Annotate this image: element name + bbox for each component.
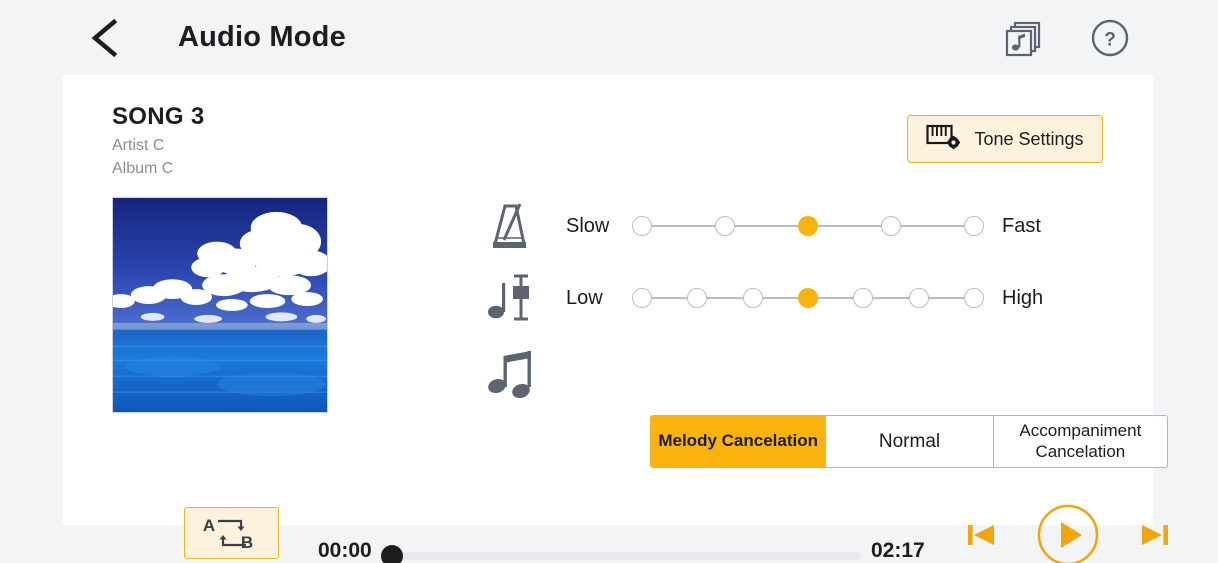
ab-repeat-button[interactable]: A B <box>184 507 279 559</box>
tone-settings-button[interactable]: Tone Settings <box>907 115 1103 163</box>
pitch-slider-step-6[interactable] <box>964 288 984 308</box>
tempo-slider-step-1[interactable] <box>715 216 735 236</box>
total-time: 02:17 <box>871 539 925 563</box>
pitch-slider-dots <box>632 288 984 308</box>
svg-text:A: A <box>202 516 214 535</box>
part-icon-wrap <box>478 343 544 401</box>
pitch-slider-step-2[interactable] <box>743 288 763 308</box>
metronome-icon <box>489 200 533 252</box>
svg-text:?: ? <box>1104 29 1116 50</box>
album-art-image <box>113 198 327 412</box>
audio-mode-screen: Audio Mode ? SONG 3 <box>0 0 1218 563</box>
tempo-slider-step-4[interactable] <box>964 216 984 236</box>
note-fader-icon <box>485 271 537 325</box>
back-button[interactable] <box>82 15 128 61</box>
tone-settings-label: Tone Settings <box>974 129 1083 150</box>
skip-previous-icon <box>963 517 999 553</box>
header-actions: ? <box>1004 18 1130 58</box>
help-button[interactable]: ? <box>1090 18 1130 58</box>
progress-track <box>391 552 861 560</box>
pitch-label-low: Low <box>544 287 632 310</box>
piano-gear-icon <box>926 123 960 155</box>
tempo-slider-dots <box>632 216 984 236</box>
part-segmented-control[interactable]: Melody Cancelation Normal Accompaniment … <box>650 415 1168 468</box>
main-card: SONG 3 Artist C Album C <box>63 75 1153 525</box>
segment-normal[interactable]: Normal <box>826 416 993 467</box>
pitch-slider-step-5[interactable] <box>909 288 929 308</box>
segment-accompaniment-cancelation[interactable]: Accompaniment Cancelation <box>994 416 1167 467</box>
tempo-label-fast: Fast <box>984 215 1041 238</box>
previous-button[interactable] <box>963 517 999 553</box>
progress-thumb[interactable] <box>381 545 403 563</box>
ab-repeat-icon: A B <box>201 513 263 553</box>
page-title: Audio Mode <box>178 21 346 54</box>
tempo-row: Slow Fast <box>478 197 1041 255</box>
metronome-icon-wrap <box>478 197 544 255</box>
tempo-label-slow: Slow <box>544 215 632 238</box>
progress-slider[interactable] <box>381 545 861 563</box>
pitch-slider-step-4[interactable] <box>853 288 873 308</box>
tempo-slider-step-0[interactable] <box>632 216 652 236</box>
skip-next-icon <box>1137 517 1173 553</box>
pitch-slider-step-1[interactable] <box>687 288 707 308</box>
tempo-slider-step-2[interactable] <box>798 216 818 236</box>
part-row-icon <box>478 343 544 401</box>
tempo-slider[interactable] <box>632 210 984 242</box>
app-header: Audio Mode ? <box>0 0 1218 75</box>
pitch-slider[interactable] <box>632 282 984 314</box>
song-title: SONG 3 <box>112 103 205 131</box>
help-circle-icon: ? <box>1090 18 1130 58</box>
song-album: Album C <box>112 160 173 178</box>
album-art <box>112 197 328 413</box>
play-icon <box>1036 503 1100 563</box>
music-library-icon <box>1004 18 1044 58</box>
play-button[interactable] <box>1036 503 1100 563</box>
pitch-slider-step-0[interactable] <box>632 288 652 308</box>
transport-controls <box>963 500 1173 563</box>
segment-melody-cancelation[interactable]: Melody Cancelation <box>651 416 826 467</box>
chevron-left-icon <box>88 18 122 58</box>
current-time: 00:00 <box>318 539 372 563</box>
beamed-notes-icon <box>485 344 537 400</box>
tempo-slider-step-3[interactable] <box>881 216 901 236</box>
pitch-label-high: High <box>984 287 1043 310</box>
pitch-slider-step-3[interactable] <box>798 288 818 308</box>
song-artist: Artist C <box>112 137 164 155</box>
pitch-icon-wrap <box>478 269 544 327</box>
pitch-row: Low High <box>478 269 1043 327</box>
playlist-button[interactable] <box>1004 18 1044 58</box>
svg-text:B: B <box>240 533 252 552</box>
next-button[interactable] <box>1137 517 1173 553</box>
